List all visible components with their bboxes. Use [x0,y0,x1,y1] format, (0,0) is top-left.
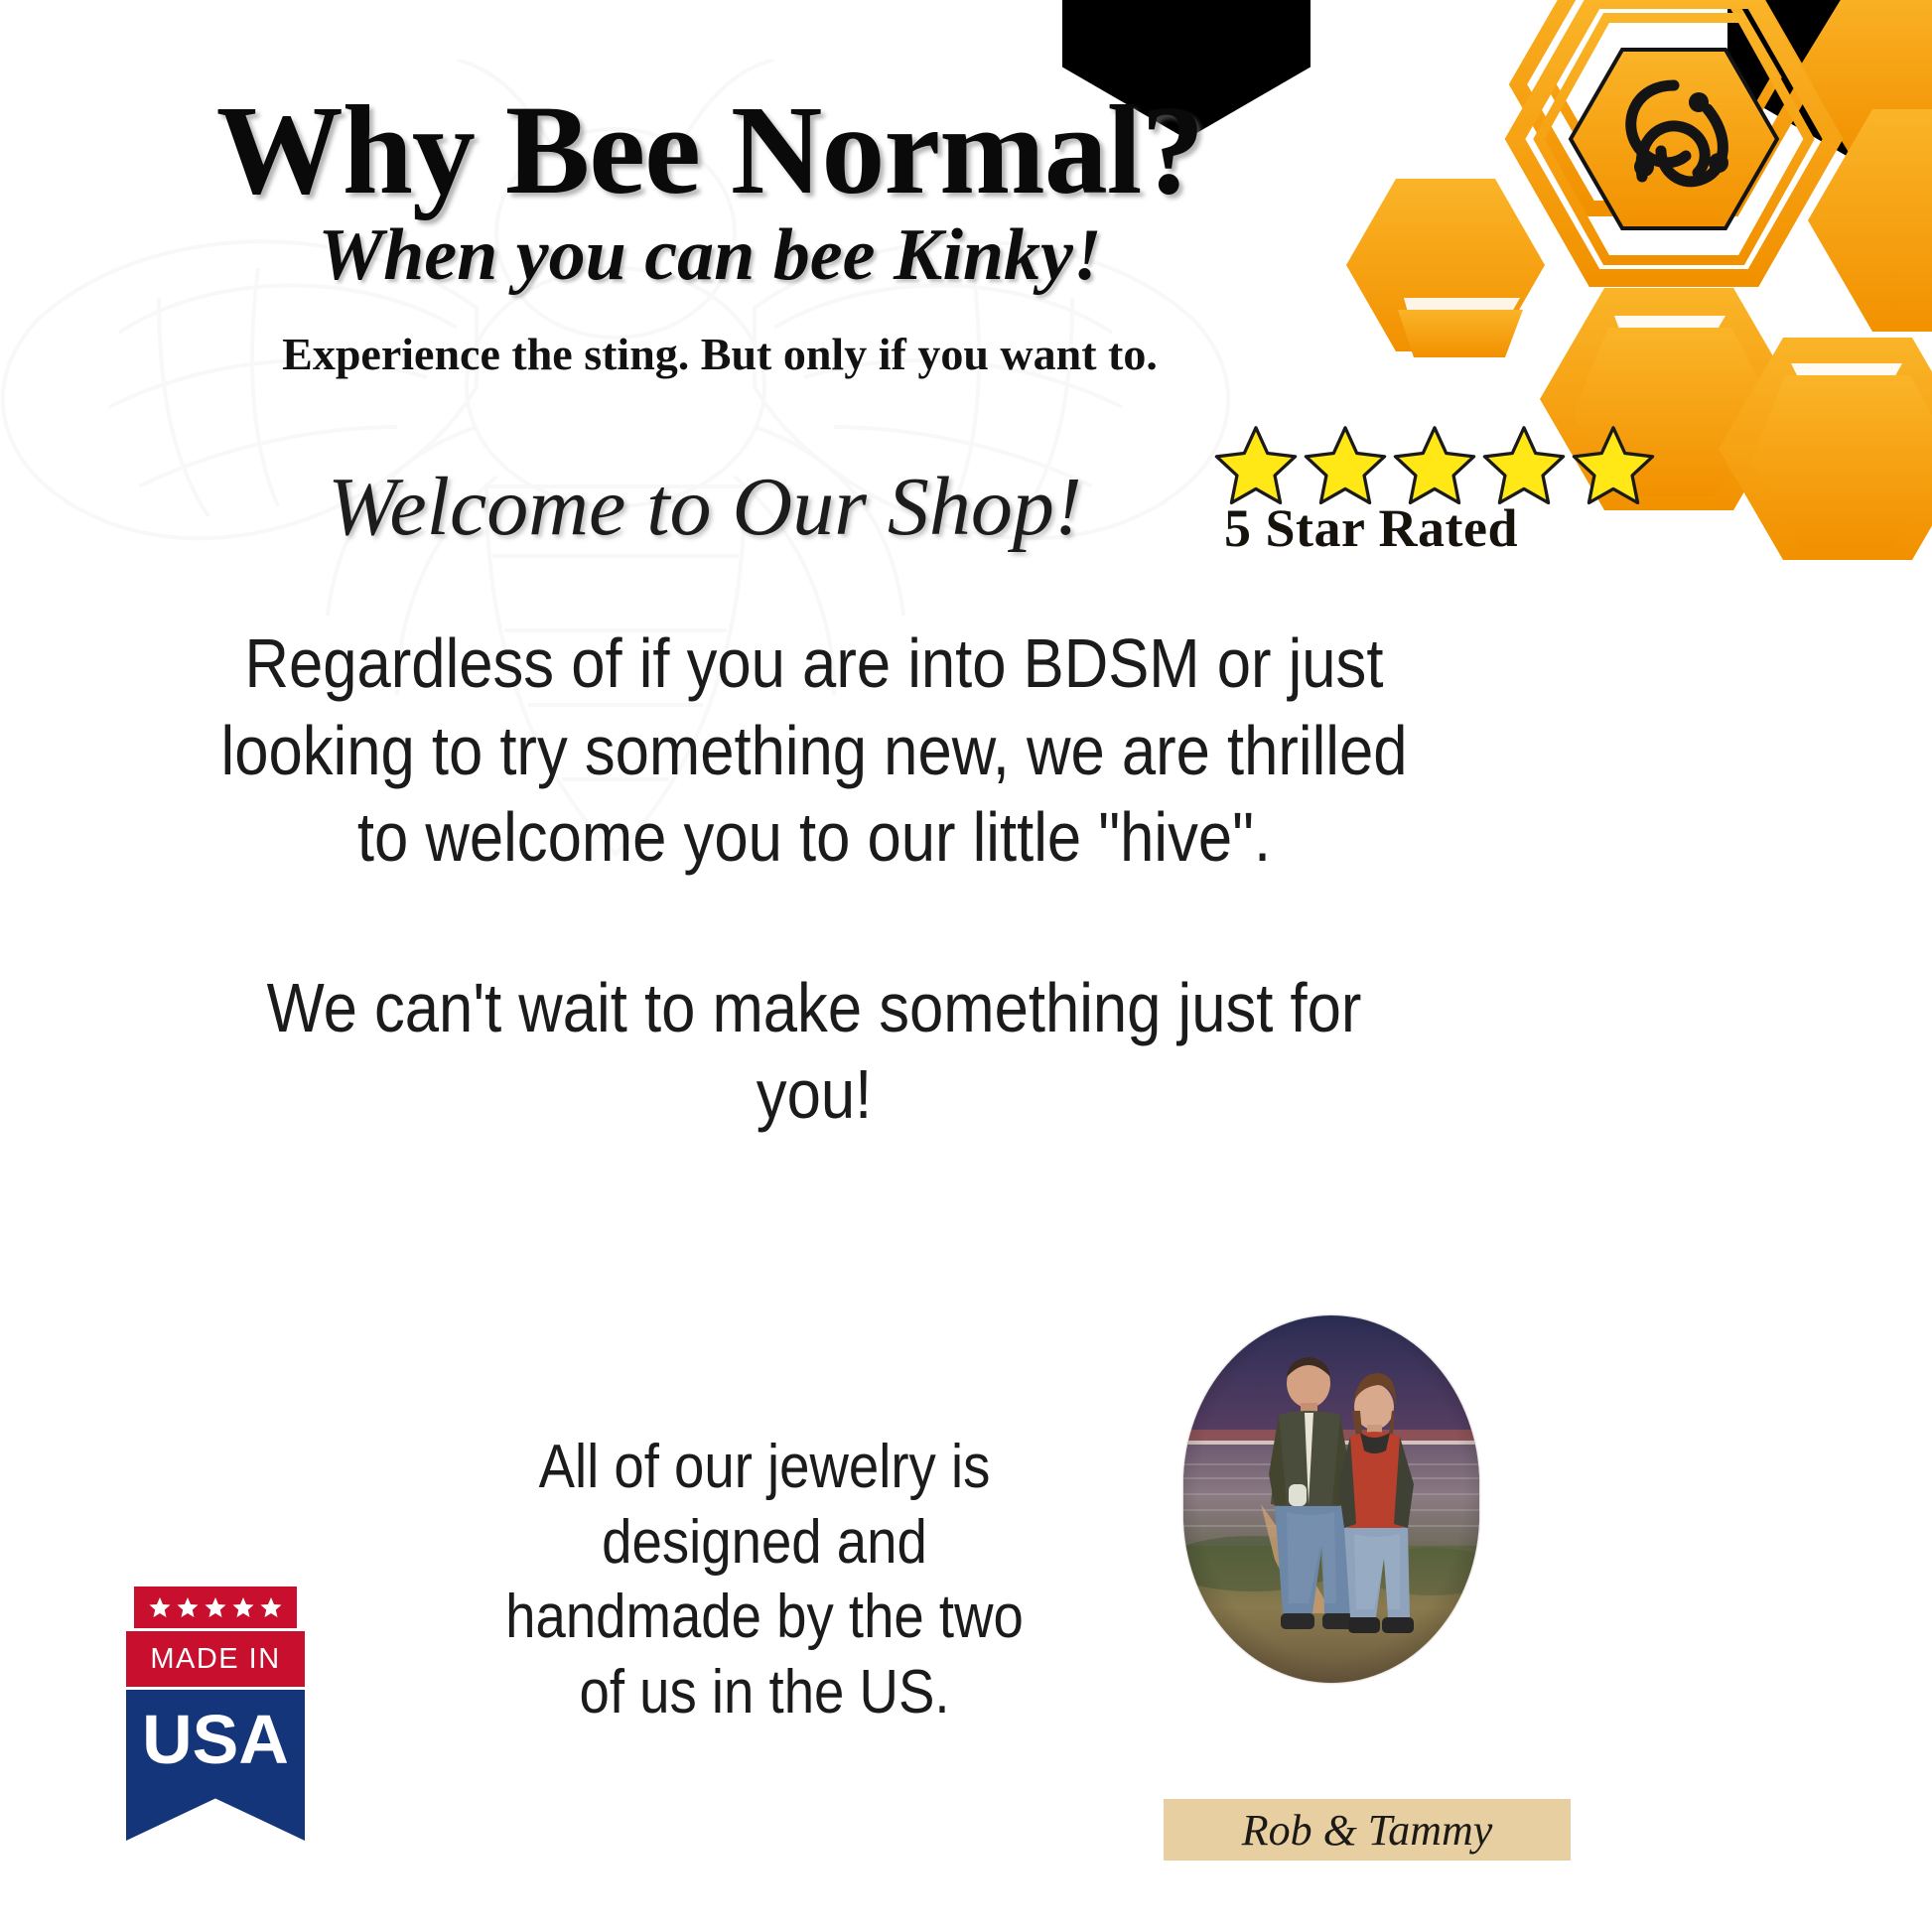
usa-badge-stars [134,1587,297,1628]
tagline: When you can bee Kinky! [0,213,1420,298]
star-icon [1480,422,1568,509]
made-in-usa-badge: MADE IN USA [126,1587,305,1841]
welcome-heading: Welcome to Our Shop! [0,459,1410,555]
body-paragraph-1: Regardless of if you are into BDSM or ju… [203,621,1426,882]
star-icon [1570,422,1657,509]
jewelry-note-line-2: designed and [468,1505,1061,1581]
jewelry-note-line-3: handmade by the two [468,1580,1061,1655]
star-icon [1391,422,1478,509]
star-icon [148,1595,172,1619]
star-icon [1302,422,1389,509]
owners-names: Rob & Tammy [1242,1805,1493,1856]
star-icon [176,1595,200,1619]
owners-photo [1183,1315,1479,1683]
body-paragraph-2: We can't wait to make something just for… [203,965,1426,1139]
owners-nameplate: Rob & Tammy [1164,1799,1571,1861]
black-hexagon-decoration-2 [1727,0,1932,159]
usa-badge-country-label: USA [142,1700,289,1779]
five-star-rating-badge: 5 Star Rated [1206,422,1932,559]
page-title: Why Bee Normal? [0,77,1420,223]
jewelry-note: All of our jewelry is designed and handm… [468,1430,1061,1730]
body-copy: Regardless of if you are into BDSM or ju… [203,621,1426,1139]
jewelry-note-line-4: of us in the US. [468,1655,1061,1730]
jewelry-note-line-1: All of our jewelry is [468,1430,1061,1505]
star-icon [231,1595,255,1619]
star-icon [204,1595,227,1619]
stars-row [1212,422,1932,509]
star-icon [259,1595,283,1619]
usa-badge-made-in-label: MADE IN [126,1631,305,1687]
usa-badge-banner: USA [126,1690,305,1841]
sub-tagline: Experience the sting. But only if you wa… [0,328,1440,380]
star-icon [1212,422,1300,509]
